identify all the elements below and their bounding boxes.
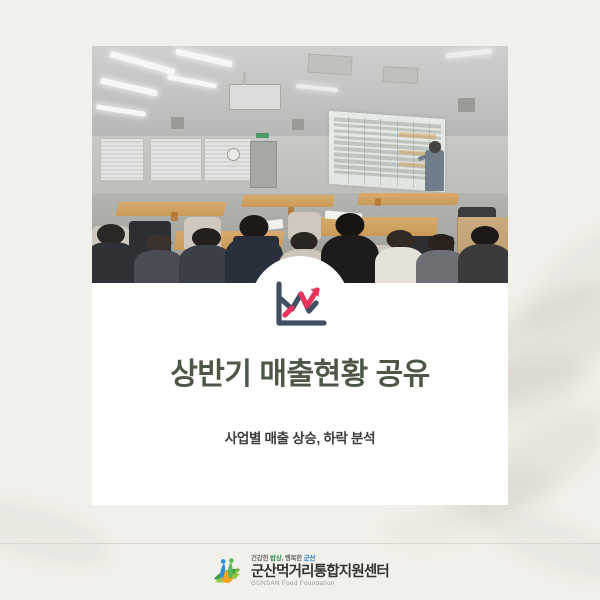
attendee (134, 233, 184, 283)
wall-speaker (292, 119, 304, 130)
wall-speaker (458, 98, 475, 112)
presenter-body (425, 150, 444, 190)
window-blind (204, 138, 252, 180)
brand-tagline-highlight1: 밥상 (270, 555, 282, 562)
brand-text-block: 건강한 밥상, 행복한 군산 군산먹거리통합지원센터 GUNSAN Food F… (251, 556, 389, 587)
ceiling-projector (229, 84, 281, 110)
ceiling-vent (383, 66, 419, 84)
gunsan-food-foundation-emblem (211, 556, 243, 588)
attendee (458, 224, 508, 283)
poster-card: 상반기 매출현황 공유 사업별 매출 상승, 하락 분석 (92, 46, 508, 505)
brand-tagline: 건강한 밥상, 행복한 군산 (251, 556, 315, 563)
drink-bottle (375, 198, 381, 207)
meeting-room-photo (92, 46, 508, 283)
footer-branding: 건강한 밥상, 행복한 군산 군산먹거리통합지원센터 GUNSAN Food F… (0, 544, 600, 600)
brand-tagline-highlight2: 군산 (304, 555, 316, 562)
presenter-head (429, 141, 441, 153)
wall-clock (227, 148, 240, 161)
drink-bottle (171, 212, 178, 221)
organization-name-en: GUNSAN Food Foundation (251, 581, 335, 587)
line-chart-icon (272, 281, 328, 331)
ceiling-vent (308, 54, 353, 76)
meeting-table (241, 195, 334, 207)
chart-badge (250, 256, 350, 356)
room-door (250, 141, 277, 188)
exit-sign (256, 133, 268, 139)
meeting-table (358, 193, 459, 205)
attendee (92, 221, 138, 283)
window-blind (100, 138, 144, 180)
page-subtitle: 사업별 매출 상승, 하락 분석 (92, 393, 508, 447)
organization-name: 군산먹거리통합지원센터 (251, 565, 389, 580)
window-blind (150, 138, 202, 180)
poster-canvas: 상반기 매출현황 공유 사업별 매출 상승, 하락 분석 (0, 0, 600, 600)
wall-speaker (171, 117, 184, 129)
brand-tagline-part1: 건강한 (251, 555, 270, 562)
brand-tagline-part2: , 행복한 (282, 555, 304, 562)
leaf-shadow-decoration (508, 205, 600, 349)
